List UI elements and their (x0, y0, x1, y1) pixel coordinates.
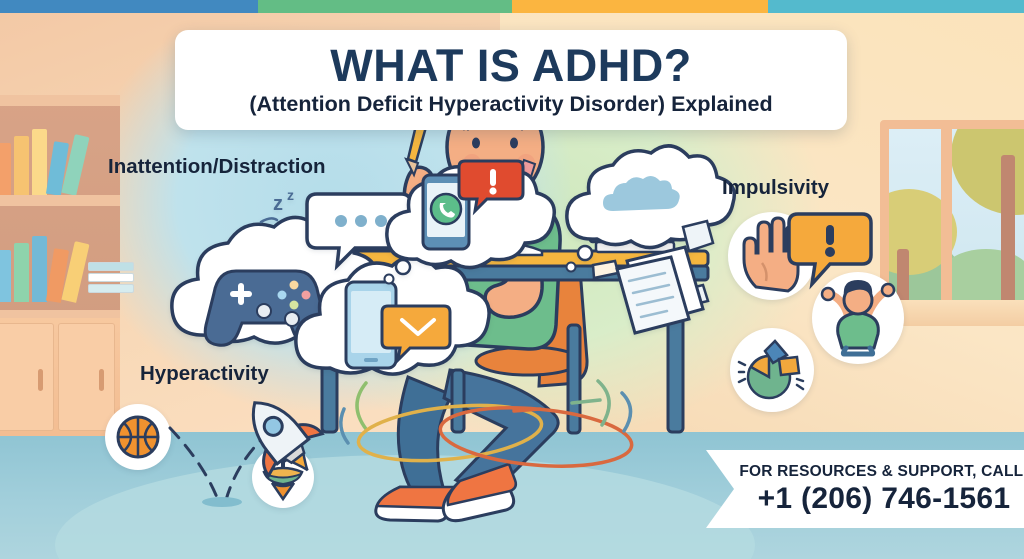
strip-segment-1 (258, 0, 512, 13)
book-spine (14, 136, 29, 195)
book-spine (32, 236, 47, 302)
strip-segment-0 (0, 0, 258, 13)
section-label-inattention: Inattention/Distraction (108, 155, 326, 179)
cabinet (0, 318, 120, 436)
infographic-canvas: z z (0, 0, 1024, 559)
strip-segment-3 (768, 0, 1024, 13)
section-label-hyperactivity: Hyperactivity (140, 362, 269, 386)
flat-book (88, 262, 134, 271)
svg-text:z: z (287, 187, 294, 203)
window-icon (880, 120, 1024, 310)
cta-kicker-text: FOR RESOURCES & SUPPORT, CALL: (739, 463, 1024, 481)
book-spine (0, 143, 11, 195)
book-spine (14, 243, 29, 302)
rocket-icon (225, 390, 335, 480)
jumping-child-icon (812, 272, 904, 364)
cta-banner[interactable]: FOR RESOURCES & SUPPORT, CALL: +1 (206) … (706, 450, 1024, 528)
page-title: WHAT IS ADHD? (330, 43, 691, 89)
pie-chart-icon (730, 328, 814, 412)
page-subtitle: (Attention Deficit Hyperactivity Disorde… (249, 92, 772, 117)
smartphone-alert-icon (385, 155, 535, 285)
basketball-icon (105, 404, 171, 470)
section-label-impulsivity: Impulsivity (722, 176, 829, 200)
cabinet-door-right (58, 323, 115, 431)
daydream-cloud-icon (565, 165, 745, 345)
cabinet-door-left (0, 323, 54, 431)
book-spine (32, 129, 47, 195)
flat-book (88, 273, 134, 282)
book-spine (0, 250, 11, 302)
title-card: WHAT IS ADHD? (Attention Deficit Hyperac… (175, 30, 847, 130)
top-color-strip (0, 0, 1024, 13)
flat-book-stack-icon (88, 262, 134, 295)
flat-book (88, 284, 134, 293)
svg-text:z: z (273, 193, 283, 215)
cta-phone-number[interactable]: +1 (206) 746-1561 (758, 482, 1011, 516)
strip-segment-2 (512, 0, 768, 13)
